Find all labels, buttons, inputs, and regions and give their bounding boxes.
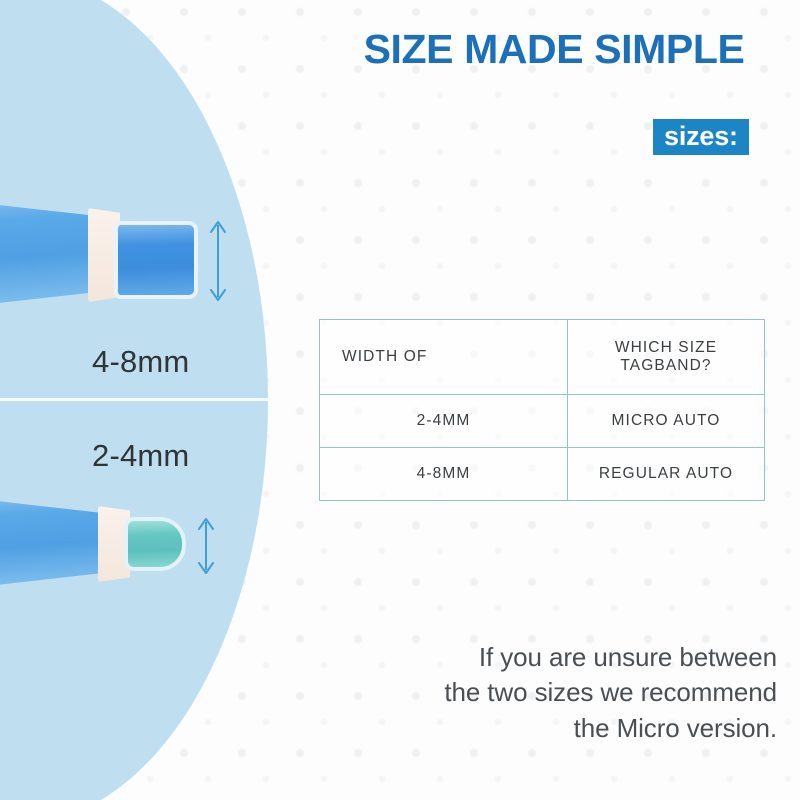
table-cell-size-micro: MICRO AUTO — [568, 395, 765, 448]
height-arrow-regular — [204, 218, 232, 309]
size-label-micro: 2-4mm — [92, 438, 189, 474]
product-illustration-panel — [0, 0, 268, 800]
table-header-tagband: WHICH SIZE TAGBAND? — [568, 320, 765, 395]
sizes-badge: sizes: — [653, 119, 749, 155]
product-tip-micro — [128, 521, 182, 567]
page-title: SIZE MADE SIMPLE — [334, 26, 774, 73]
product-collar-micro — [98, 506, 130, 582]
table-header-row: WIDTH OF WHICH SIZE TAGBAND? — [320, 320, 765, 395]
table-row: 2-4MM MICRO AUTO — [320, 395, 765, 448]
table-cell-size-regular: REGULAR AUTO — [568, 448, 765, 501]
table-header-width: WIDTH OF — [320, 320, 568, 395]
infographic-canvas: 4-8mm 2-4mm SIZE MADE SIMPLE sizes: WIDT… — [0, 0, 800, 800]
table-cell-width-regular: 4-8MM — [320, 448, 568, 501]
height-arrow-micro — [192, 516, 220, 581]
product-collar-regular — [88, 208, 120, 302]
recommendation-note: If you are unsure between the two sizes … — [335, 640, 777, 746]
table-row: 4-8MM REGULAR AUTO — [320, 448, 765, 501]
table-cell-width-micro: 2-4MM — [320, 395, 568, 448]
product-tip-regular — [118, 225, 194, 295]
note-line-3: the Micro version. — [335, 711, 777, 746]
size-chart-table: WIDTH OF WHICH SIZE TAGBAND? 2-4MM MICRO… — [319, 319, 765, 501]
note-line-2: the two sizes we recommend — [335, 675, 777, 710]
panel-divider — [0, 398, 268, 401]
note-line-1: If you are unsure between — [335, 640, 777, 675]
size-label-regular: 4-8mm — [92, 344, 189, 380]
